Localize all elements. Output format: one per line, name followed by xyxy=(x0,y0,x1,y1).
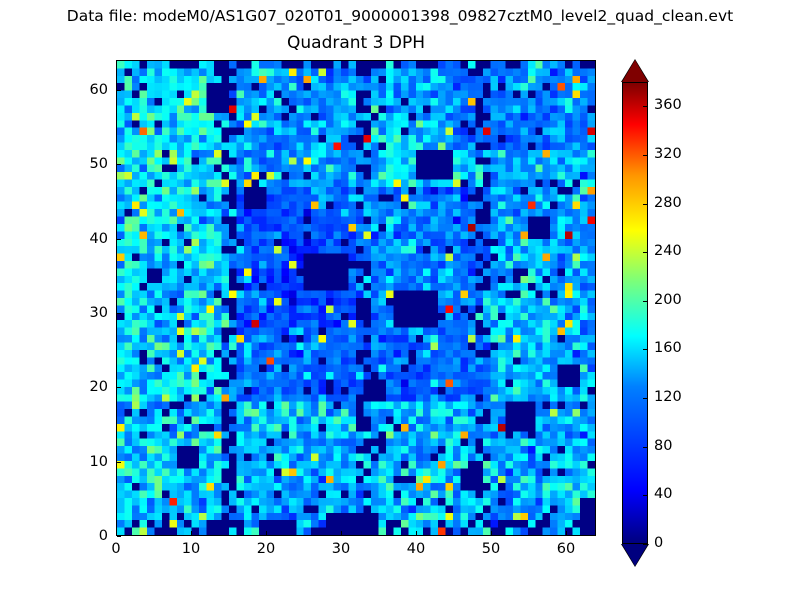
colorbar-tick-mark xyxy=(643,349,648,350)
colorbar-tick-mark xyxy=(643,301,648,302)
x-tick-mark xyxy=(566,531,567,535)
colorbar-tick-label: 120 xyxy=(654,389,682,405)
colorbar-tick-label: 80 xyxy=(654,438,672,454)
x-tick-mark xyxy=(341,531,342,535)
x-tick-label: 20 xyxy=(236,541,296,557)
colorbar-tick-mark xyxy=(643,106,648,107)
x-tick-mark xyxy=(491,531,492,535)
y-tick-label: 10 xyxy=(48,454,108,470)
x-tick-mark xyxy=(416,531,417,535)
colorbar-gradient xyxy=(622,82,648,544)
plot-title: Quadrant 3 DPH xyxy=(116,32,596,54)
y-tick-label: 60 xyxy=(48,82,108,98)
x-tick-mark xyxy=(191,531,192,535)
colorbar-tick-mark xyxy=(643,155,648,156)
y-tick-label: 50 xyxy=(48,156,108,172)
y-tick-label: 30 xyxy=(48,305,108,321)
x-tick-label: 60 xyxy=(536,541,596,557)
x-tick-label: 10 xyxy=(161,541,221,557)
colorbar-tick-mark xyxy=(643,447,648,448)
y-tick-label: 20 xyxy=(48,379,108,395)
colorbar-tick-mark xyxy=(643,398,648,399)
colorbar-tick-label: 280 xyxy=(654,195,682,211)
x-tick-mark xyxy=(266,531,267,535)
y-tick-label: 40 xyxy=(48,231,108,247)
colorbar-tick-label: 160 xyxy=(654,340,682,356)
colorbar-tick-mark xyxy=(643,544,648,545)
y-tick-label: 0 xyxy=(48,528,108,544)
colorbar-extend-top-arrow xyxy=(622,60,648,82)
x-tick-label: 30 xyxy=(311,541,371,557)
colorbar-tick-label: 360 xyxy=(654,97,682,113)
y-tick-mark xyxy=(117,313,121,314)
colorbar-tick-label: 40 xyxy=(654,486,672,502)
x-tick-label: 50 xyxy=(461,541,521,557)
x-tick-label: 40 xyxy=(386,541,446,557)
detector-heatmap-image xyxy=(117,61,595,535)
y-tick-mark xyxy=(117,164,121,165)
colorbar-tick-label: 240 xyxy=(654,243,682,259)
colorbar: 04080120160200240280320360 xyxy=(622,60,712,550)
y-tick-mark xyxy=(117,462,121,463)
y-tick-mark xyxy=(117,536,121,537)
x-tick-mark xyxy=(116,531,117,535)
heatmap-axes xyxy=(116,60,596,536)
colorbar-tick-label: 200 xyxy=(654,292,682,308)
colorbar-tick-label: 0 xyxy=(654,535,663,551)
y-tick-mark xyxy=(117,387,121,388)
colorbar-tick-mark xyxy=(643,495,648,496)
y-tick-mark xyxy=(117,90,121,91)
colorbar-tick-mark xyxy=(643,252,648,253)
colorbar-tick-mark xyxy=(643,204,648,205)
y-tick-mark xyxy=(117,239,121,240)
colorbar-extend-bottom-arrow xyxy=(622,544,648,566)
colorbar-tick-label: 320 xyxy=(654,146,682,162)
data-file-suptitle: Data file: modeM0/AS1G07_020T01_90000013… xyxy=(0,6,800,26)
figure-canvas: Data file: modeM0/AS1G07_020T01_90000013… xyxy=(0,0,800,600)
